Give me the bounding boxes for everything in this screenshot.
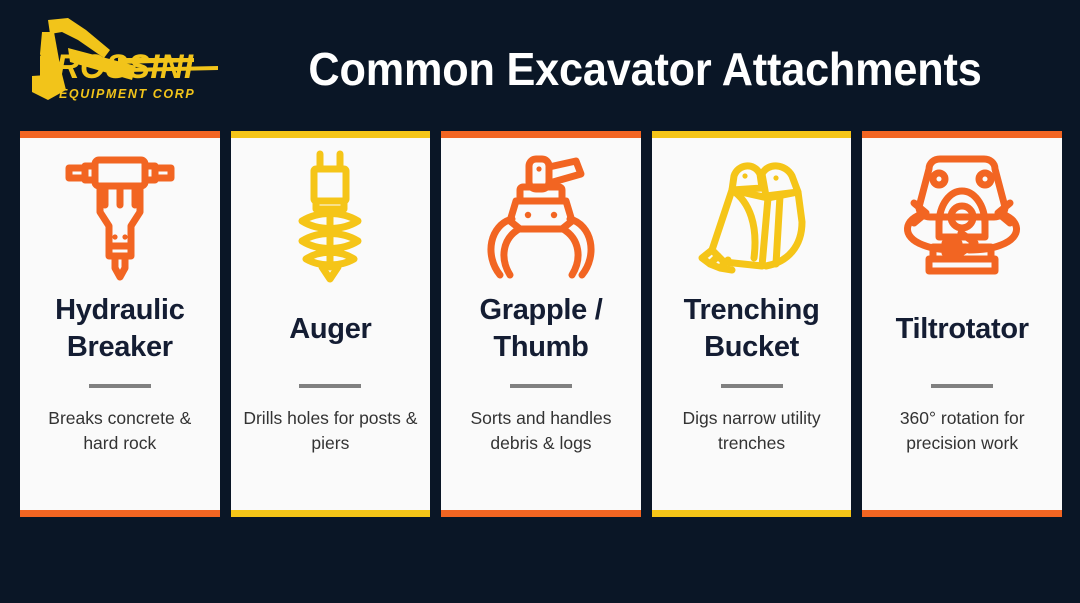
card-title: Grapple / Thumb bbox=[449, 290, 633, 368]
company-logo: ROSSINI EQUIPMENT CORP bbox=[18, 14, 218, 110]
card-accent-bar-top bbox=[441, 131, 641, 138]
card-divider bbox=[510, 384, 572, 388]
card-title: Tiltrotator bbox=[870, 290, 1054, 368]
card-description: Breaks concrete & hard rock bbox=[30, 406, 210, 456]
card-description: 360° rotation for precision work bbox=[872, 406, 1052, 456]
logo-tagline: EQUIPMENT CORP bbox=[59, 86, 220, 102]
card-description: Drills holes for posts & piers bbox=[241, 406, 421, 456]
page-title: Common Excavator Attachments bbox=[255, 40, 1035, 98]
card-divider bbox=[89, 384, 151, 388]
page-header: ROSSINI EQUIPMENT CORP Common Excavator … bbox=[0, 0, 1080, 128]
card-accent-bar-top bbox=[862, 131, 1062, 138]
attachment-card-grapple-thumb[interactable]: Grapple / Thumb Sorts and handles debris… bbox=[441, 131, 641, 517]
logo-company-name: ROSSINI bbox=[56, 50, 213, 84]
card-divider bbox=[299, 384, 361, 388]
card-divider bbox=[931, 384, 993, 388]
card-title: Auger bbox=[239, 290, 423, 368]
attachment-card-hydraulic-breaker[interactable]: Hydraulic Breaker Breaks concrete & hard… bbox=[20, 131, 220, 517]
hydraulic-breaker-icon bbox=[20, 138, 220, 290]
auger-icon bbox=[231, 138, 431, 290]
card-accent-bar-bottom bbox=[20, 510, 220, 517]
attachment-card-tiltrotator[interactable]: Tiltrotator 360° rotation for precision … bbox=[862, 131, 1062, 517]
trenching-bucket-icon bbox=[652, 138, 852, 290]
card-accent-bar-top bbox=[652, 131, 852, 138]
card-accent-bar-bottom bbox=[862, 510, 1062, 517]
attachment-card-trenching-bucket[interactable]: Trenching Bucket Digs narrow utility tre… bbox=[652, 131, 852, 517]
card-accent-bar-top bbox=[20, 131, 220, 138]
card-title: Hydraulic Breaker bbox=[28, 290, 212, 368]
card-description: Sorts and handles debris & logs bbox=[451, 406, 631, 456]
card-divider bbox=[721, 384, 783, 388]
tiltrotator-icon bbox=[862, 138, 1062, 290]
card-accent-bar-top bbox=[231, 131, 431, 138]
attachment-card-auger[interactable]: Auger Drills holes for posts & piers bbox=[231, 131, 431, 517]
attachment-card-list: Hydraulic Breaker Breaks concrete & hard… bbox=[20, 131, 1062, 517]
card-accent-bar-bottom bbox=[652, 510, 852, 517]
grapple-thumb-icon bbox=[441, 138, 641, 290]
card-title: Trenching Bucket bbox=[660, 290, 844, 368]
card-description: Digs narrow utility trenches bbox=[662, 406, 842, 456]
card-accent-bar-bottom bbox=[441, 510, 641, 517]
card-accent-bar-bottom bbox=[231, 510, 431, 517]
